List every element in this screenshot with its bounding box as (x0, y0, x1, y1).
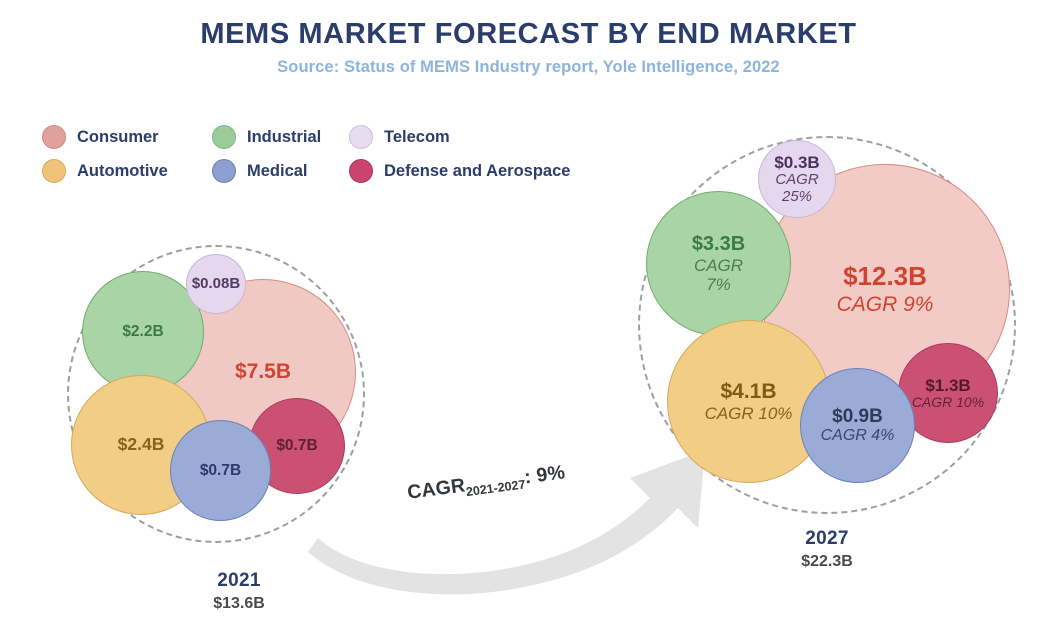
year-caption-2027: 2027 $22.3B (727, 528, 927, 571)
year-total: $22.3B (727, 553, 927, 571)
bubble-value: $0.9B (832, 406, 883, 427)
bubble-cagr-value: 7% (706, 275, 731, 294)
bubble-value: $2.2B (122, 323, 163, 340)
legend-swatch-icon (42, 159, 66, 183)
legend-item-consumer[interactable]: Consumer (42, 125, 212, 149)
legend-item-medical[interactable]: Medical (212, 159, 349, 183)
legend-label: Telecom (384, 128, 450, 147)
bubble-value: $4.1B (720, 380, 776, 404)
bubble-cagr: CAGR (775, 172, 818, 189)
bubble-industrial-2027[interactable]: $3.3B CAGR 7% (646, 191, 791, 336)
legend: Consumer Industrial Telecom Automotive M… (42, 120, 642, 188)
bubble-cagr: CAGR 10% (912, 395, 984, 411)
bubble-medical-2027[interactable]: $0.9B CAGR 4% (800, 368, 915, 483)
year-caption-2021: 2021 $13.6B (139, 570, 339, 613)
bubble-value: $0.08B (192, 276, 240, 293)
bubble-telecom-2021[interactable]: $0.08B (186, 254, 246, 314)
bubble-cagr: CAGR 10% (705, 404, 793, 423)
legend-label: Consumer (77, 128, 159, 147)
bubble-value: $12.3B (843, 262, 927, 291)
bubble-cagr: CAGR 9% (837, 293, 934, 317)
legend-label: Defense and Aerospace (384, 162, 570, 181)
legend-row-2: Automotive Medical Defense and Aerospace (42, 154, 642, 188)
bubble-value: $0.7B (276, 437, 317, 454)
bubble-cluster-2027: $12.3B CAGR 9% $3.3B CAGR 7% $0.3B CAGR … (620, 128, 1030, 528)
legend-row-1: Consumer Industrial Telecom (42, 120, 642, 154)
bubble-value: $0.3B (774, 153, 819, 172)
cagr-value: : 9% (523, 461, 566, 488)
legend-swatch-icon (212, 125, 236, 149)
legend-swatch-icon (42, 125, 66, 149)
bubble-value: $1.3B (925, 376, 970, 395)
year-label: 2027 (727, 528, 927, 550)
bubble-value: $2.4B (118, 435, 165, 455)
bubble-cagr: CAGR (694, 256, 743, 275)
bubble-cluster-2021: $7.5B $2.2B $0.08B $2.4B $0.7B $0.7B (60, 235, 360, 565)
bubble-cagr: CAGR 4% (821, 427, 895, 445)
year-total: $13.6B (139, 595, 339, 613)
header: MEMS MARKET FORECAST BY END MARKET Sourc… (0, 18, 1057, 77)
bubble-value: $7.5B (235, 360, 291, 384)
bubble-telecom-2027[interactable]: $0.3B CAGR 25% (758, 140, 836, 218)
legend-swatch-icon (212, 159, 236, 183)
legend-swatch-icon (349, 125, 373, 149)
bubble-medical-2021[interactable]: $0.7B (170, 420, 271, 521)
legend-label: Medical (247, 162, 308, 181)
legend-item-defense-and-aerospace[interactable]: Defense and Aerospace (349, 159, 599, 183)
legend-swatch-icon (349, 159, 373, 183)
year-label: 2021 (139, 570, 339, 592)
bubble-value: $0.7B (200, 462, 241, 479)
legend-item-automotive[interactable]: Automotive (42, 159, 212, 183)
legend-label: Automotive (77, 162, 168, 181)
chart-subtitle: Source: Status of MEMS Industry report, … (0, 58, 1057, 77)
infographic-canvas: MEMS MARKET FORECAST BY END MARKET Sourc… (0, 0, 1057, 622)
page-title: MEMS MARKET FORECAST BY END MARKET (0, 18, 1057, 51)
legend-item-industrial[interactable]: Industrial (212, 125, 349, 149)
bubble-value: $3.3B (692, 233, 745, 255)
legend-item-telecom[interactable]: Telecom (349, 125, 599, 149)
legend-label: Industrial (247, 128, 321, 147)
bubble-cagr-value: 25% (782, 189, 812, 206)
